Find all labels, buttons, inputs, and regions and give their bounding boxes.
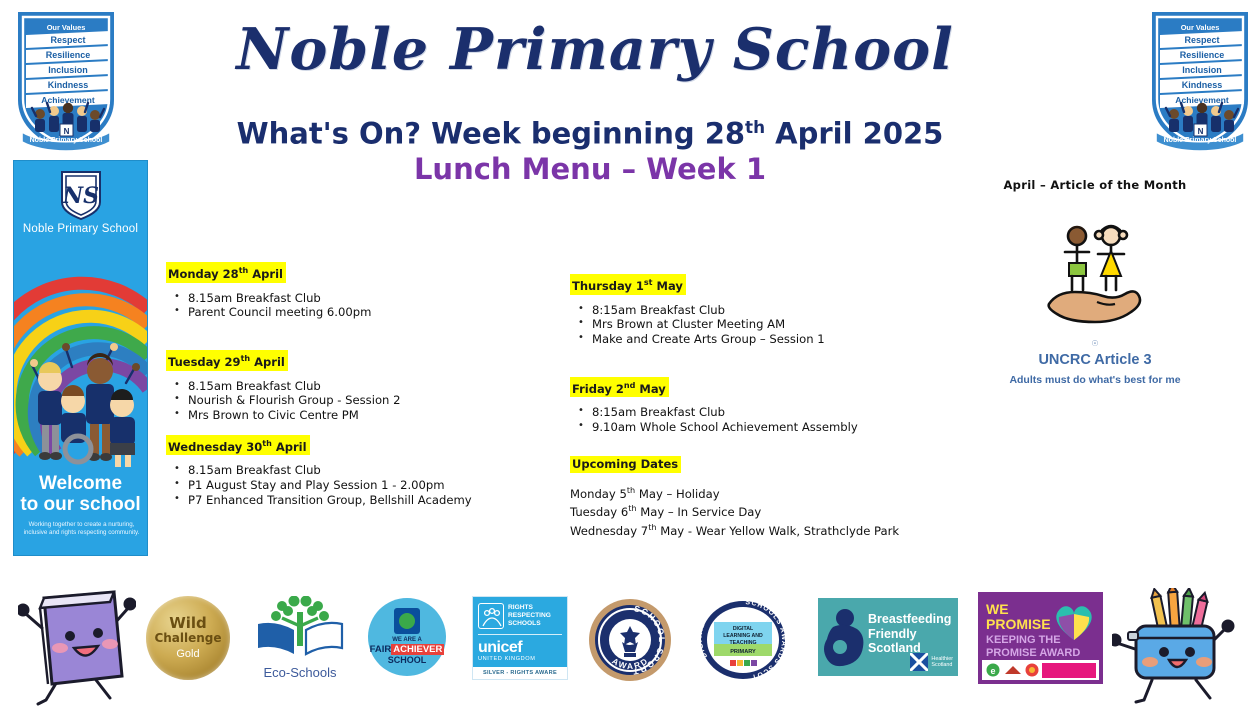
event-list-friday: 8:15am Breakfast Club 9.10am Whole Schoo…	[570, 405, 950, 434]
day-block-wednesday: Wednesday 30th April 8.15am Breakfast Cl…	[166, 435, 546, 508]
heart-icon	[1051, 600, 1097, 642]
welcome-banner: NS Noble Primary School	[13, 160, 148, 556]
lunch-menu-heading: Lunch Menu – Week 1	[150, 150, 1030, 188]
article-of-the-month-heading: April – Article of the Month	[960, 178, 1230, 192]
svg-text:PRIMARY: PRIMARY	[730, 649, 756, 655]
svg-text:Our Values: Our Values	[1181, 23, 1220, 32]
day-date: Tuesday 29	[168, 355, 241, 369]
upcoming-ordinal: th	[627, 485, 635, 495]
fair-achiever-school-logo: WE ARE A FAIRACHIEVER SCHOOL	[368, 598, 446, 676]
list-item: Mrs Brown to Civic Centre PM	[166, 408, 546, 423]
list-item: P1 August Stay and Play Session 1 - 2.00…	[166, 478, 546, 493]
list-item: Mrs Brown at Cluster Meeting AM	[570, 317, 950, 332]
school-sport-award-logo: SCHOOL SPORT AWARD	[588, 598, 672, 687]
list-item: Nourish & Flourish Group - Session 2	[166, 393, 546, 408]
healthier-scotland-badge: Healthier Scotland	[910, 653, 953, 671]
uncrc-article-subtitle: Adults must do what's best for me	[960, 374, 1230, 386]
banner-welcome-text: Welcome to our school	[14, 473, 147, 515]
svg-text:Noble Primary School: Noble Primary School	[1164, 137, 1237, 144]
pencil-case-mascot-icon	[1112, 588, 1236, 709]
we-promise-keeping-the-promise-award-logo: WE PROMISE KEEPING THE PROMISE AWARD e	[978, 592, 1103, 684]
we-promise-line2: PROMISE	[986, 617, 1051, 632]
we-promise-title: WE PROMISE	[986, 602, 1051, 632]
upcoming-dates-heading: Upcoming Dates	[570, 456, 681, 473]
day-block-tuesday: Tuesday 29th April 8.15am Breakfast Club…	[166, 350, 546, 423]
day-heading-wednesday: Wednesday 30th April	[166, 435, 310, 456]
breastfeeding-friendly-scotland-logo: Breastfeeding Friendly Scotland Healthie…	[818, 598, 958, 676]
day-block-thursday: Thursday 1st May 8:15am Breakfast Club M…	[570, 274, 950, 347]
svg-text:DIGITAL: DIGITAL	[733, 626, 754, 632]
banner-school-name: Noble Primary School	[14, 223, 147, 235]
newsletter-page: Our Values Respect Resilience Inclusion …	[0, 0, 1260, 709]
reading-book-mascot-icon	[18, 584, 136, 709]
list-item: Tuesday 6th May – In Service Day	[570, 501, 950, 519]
healthier-scotland-text: Healthier Scotland	[931, 656, 953, 668]
svg-text:Our Values: Our Values	[47, 23, 86, 32]
banner-welcome-line2: to our school	[14, 494, 147, 515]
day-ordinal: th	[239, 266, 249, 275]
article-of-the-month-panel: April – Article of the Month	[960, 178, 1230, 386]
list-item: Parent Council meeting 6.00pm	[166, 305, 546, 320]
svg-text:LEARNING AND: LEARNING AND	[723, 633, 763, 639]
wild-challenge-gold-logo: Wild Challenge Gold	[146, 596, 230, 680]
bfs-line1: Breastfeeding	[868, 612, 951, 627]
banner-crest-icon: NS	[14, 169, 147, 226]
event-list-monday: 8.15am Breakfast Club Parent Council mee…	[166, 291, 546, 320]
bfs-line2: Friendly	[868, 627, 951, 642]
we-promise-line1: WE	[986, 602, 1051, 617]
whats-on-suffix: April 2025	[765, 117, 943, 151]
svg-text:Inclusion: Inclusion	[48, 65, 88, 75]
day-ordinal: th	[262, 439, 272, 448]
svg-text:Kindness: Kindness	[1182, 80, 1223, 90]
upcoming-day: Wednesday 7	[570, 523, 648, 537]
list-item: 8.15am Breakfast Club	[166, 291, 546, 306]
spacer	[570, 349, 950, 377]
whats-on-prefix: What's On? Week beginning 28	[237, 117, 745, 151]
page-title: Noble Primary School	[180, 14, 1010, 86]
svg-text:Inclusion: Inclusion	[1182, 65, 1222, 75]
whats-on-ordinal: th	[745, 117, 765, 137]
digital-schools-awards-scotland-logo: DIGITAL LEARNING AND TEACHING PRIMARY SC…	[700, 600, 786, 685]
school-crest-right: Our Values Respect Resilience Inclusion …	[1148, 4, 1252, 154]
rrs-title: RIGHTS RESPECTING SCHOOLS	[508, 604, 551, 628]
divider	[478, 634, 562, 635]
list-item: 8:15am Breakfast Club	[570, 405, 950, 420]
svg-text:e: e	[990, 666, 995, 676]
unicef-wordmark: unicef	[478, 639, 562, 656]
list-item: 8:15am Breakfast Club	[570, 303, 950, 318]
fair-word: FAIR	[370, 644, 392, 655]
svg-text:TEACHING: TEACHING	[729, 640, 756, 646]
rrs-line1: RIGHTS	[508, 604, 551, 612]
spacer	[570, 437, 950, 453]
upcoming-detail: May – In Service Day	[637, 505, 762, 519]
upcoming-dates-block: Upcoming Dates Monday 5th May – Holiday …	[570, 453, 950, 538]
school-crest-left: Our Values Respect Resilience Inclusion …	[14, 4, 118, 154]
event-list-thursday: 8:15am Breakfast Club Mrs Brown at Clust…	[570, 303, 950, 347]
upcoming-day: Monday 5	[570, 486, 627, 500]
day-month: May	[635, 381, 665, 395]
svg-text:Noble Primary School: Noble Primary School	[30, 137, 103, 144]
fairtrade-mark-icon	[394, 608, 420, 634]
list-item: 9.10am Whole School Achievement Assembly	[570, 420, 950, 435]
rrs-people-icon	[478, 603, 504, 629]
upcoming-ordinal: th	[648, 522, 656, 532]
fair-achiever-line1: WE ARE A	[392, 637, 422, 644]
ktp-line2: PROMISE AWARD	[986, 647, 1080, 660]
event-list-tuesday: 8.15am Breakfast Club Nourish & Flourish…	[166, 379, 546, 423]
banner-welcome-line1: Welcome	[14, 473, 147, 494]
fair-achiever-line3: SCHOOL	[388, 655, 427, 666]
day-heading-friday: Friday 2nd May	[570, 377, 669, 398]
hs-line2: Scotland	[931, 662, 953, 668]
wild-challenge-level: Gold	[176, 647, 199, 661]
day-date: Monday 28	[168, 267, 239, 281]
achiever-word: ACHIEVER	[391, 644, 444, 655]
list-item: Make and Create Arts Group – Session 1	[570, 332, 950, 347]
events-column-left: Monday 28th April 8.15am Breakfast Club …	[166, 262, 546, 509]
day-heading-monday: Monday 28th April	[166, 262, 286, 283]
spacer	[166, 322, 546, 350]
svg-text:Respect: Respect	[1184, 35, 1219, 45]
day-ordinal: th	[241, 354, 251, 363]
svg-text:Resilience: Resilience	[1180, 50, 1225, 60]
day-month: April	[250, 355, 285, 369]
day-month: April	[272, 439, 307, 453]
list-item: Wednesday 7th May - Wear Yellow Walk, St…	[570, 520, 950, 538]
unicef-rights-respecting-schools-logo: RIGHTS RESPECTING SCHOOLS unicef UNITED …	[472, 596, 568, 680]
day-heading-thursday: Thursday 1st May	[570, 274, 686, 295]
unicef-country: UNITED KINGDOM	[478, 656, 562, 662]
day-month: May	[653, 279, 683, 293]
pupils-illustration	[22, 321, 142, 471]
svg-text:Resilience: Resilience	[46, 50, 91, 60]
rrs-line3: SCHOOLS	[508, 620, 551, 628]
upcoming-detail: May - Wear Yellow Walk, Strathclyde Park	[657, 523, 900, 537]
list-item: 8.15am Breakfast Club	[166, 379, 546, 394]
wild-challenge-line1: Wild	[169, 616, 207, 631]
list-item: Monday 5th May – Holiday	[570, 483, 950, 501]
svg-text:NS: NS	[62, 183, 99, 209]
partner-logos-strip: e	[982, 660, 1099, 680]
eco-schools-logo: Eco-Schools	[252, 596, 348, 680]
upcoming-day: Tuesday 6	[570, 505, 628, 519]
fair-achiever-line2: FAIRACHIEVER	[370, 644, 445, 655]
upcoming-detail: May – Holiday	[635, 486, 719, 500]
day-date: Friday 2	[572, 381, 624, 395]
upcoming-dates-list: Monday 5th May – Holiday Tuesday 6th May…	[570, 483, 950, 538]
svg-text:N: N	[64, 127, 70, 136]
events-column-right: Thursday 1st May 8:15am Breakfast Club M…	[570, 274, 950, 540]
day-heading-tuesday: Tuesday 29th April	[166, 350, 288, 371]
list-item: P7 Enhanced Transition Group, Bellshill …	[166, 493, 546, 508]
award-logos-row: Wild Challenge Gold Eco-Schools	[0, 580, 1260, 709]
article-logo-mark: ☉	[960, 340, 1230, 348]
wild-challenge-line2: Challenge	[154, 631, 221, 645]
rrs-award-level: SILVER - RIGHTS AWARE	[473, 667, 567, 679]
rrs-line2: RESPECTING	[508, 612, 551, 620]
event-list-wednesday: 8.15am Breakfast Club P1 August Stay and…	[166, 463, 546, 507]
banner-tagline: Working together to create a nurturing, …	[20, 521, 143, 537]
day-date: Wednesday 30	[168, 439, 262, 453]
children-in-hand-icon	[1035, 218, 1155, 338]
day-month: April	[248, 267, 283, 281]
list-item: 8.15am Breakfast Club	[166, 463, 546, 478]
bfs-title: Breastfeeding Friendly Scotland	[868, 612, 951, 656]
day-ordinal: st	[644, 278, 653, 287]
day-ordinal: nd	[624, 381, 636, 390]
day-block-monday: Monday 28th April 8.15am Breakfast Club …	[166, 262, 546, 320]
day-block-friday: Friday 2nd May 8:15am Breakfast Club 9.1…	[570, 377, 950, 435]
upcoming-ordinal: th	[628, 503, 636, 513]
spacer	[166, 425, 546, 435]
svg-text:N: N	[1198, 127, 1204, 136]
day-date: Thursday 1	[572, 279, 644, 293]
whats-on-heading: What's On? Week beginning 28th April 202…	[150, 108, 1030, 153]
eco-schools-caption: Eco-Schools	[252, 665, 348, 680]
uncrc-article-title: UNCRC Article 3	[960, 352, 1230, 368]
svg-text:Respect: Respect	[50, 35, 85, 45]
svg-text:Kindness: Kindness	[48, 80, 89, 90]
